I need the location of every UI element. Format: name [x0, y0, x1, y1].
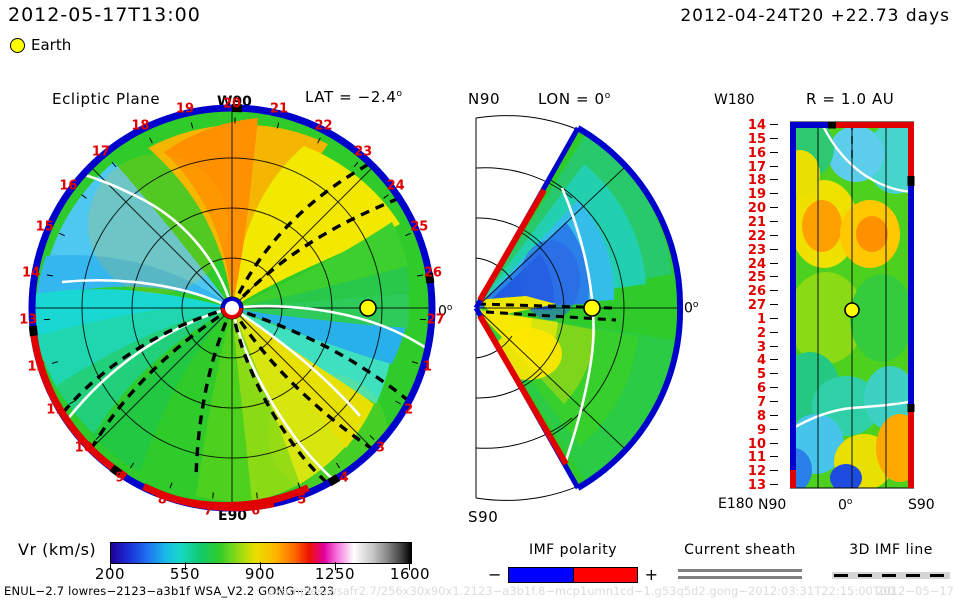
- map1au-row-tick: [770, 359, 778, 360]
- map1au-row-label: 13: [748, 479, 766, 492]
- map1au-row-tick: [770, 429, 778, 430]
- map1au-row-tick: [770, 221, 778, 222]
- map1au-row-label: 24: [748, 258, 766, 271]
- ecliptic-carrington-label: 16: [59, 180, 77, 193]
- map1au-row-tick: [770, 290, 778, 291]
- map1au-row-label: 22: [748, 230, 766, 243]
- ecliptic-carrington-label: 7: [204, 504, 213, 517]
- map1au-row-tick: [770, 304, 778, 305]
- ecliptic-tick: [149, 138, 153, 144]
- ecliptic-tick: [112, 162, 117, 167]
- ecliptic-tick: [81, 194, 86, 198]
- earth-marker-icon: [584, 300, 600, 316]
- map1au-row-label: 7: [757, 396, 766, 409]
- map1au-row-label: 25: [748, 271, 766, 284]
- map1au-row-label: 12: [748, 465, 766, 478]
- meridional-plot-svg: [466, 104, 698, 512]
- map1au-row-label: 15: [748, 133, 766, 146]
- ecliptic-tick: [420, 319, 426, 320]
- ecliptic-carrington-label: 21: [270, 103, 288, 116]
- map1au-plot-svg: [786, 118, 918, 492]
- legend-imf-positive-swatch: [573, 567, 638, 583]
- ecliptic-carrington-label: 19: [176, 103, 194, 116]
- map1au-row-tick: [770, 484, 778, 485]
- ecliptic-tick: [256, 492, 258, 498]
- meridional-velocity-field: [466, 104, 698, 512]
- map1au-row-label: 26: [748, 285, 766, 298]
- map1au-row-label: 16: [748, 147, 766, 160]
- earth-legend-label: Earth: [31, 36, 71, 54]
- ecliptic-tick: [212, 492, 214, 498]
- ecliptic-carrington-label: 27: [427, 313, 445, 326]
- timestamp-run-start: 2012-04-24T20 +22.73 days: [680, 6, 950, 26]
- map1au-row-label: 18: [748, 174, 766, 187]
- ecliptic-tick: [47, 275, 53, 277]
- watermark-path: examples/wsafr2.7/256x30x90x1.2123−a3b1f…: [268, 584, 895, 598]
- ecliptic-carrington-labels: 2021222324252627123456789101112131415161…: [28, 104, 436, 512]
- colorbar-tick-label: 1600: [390, 565, 430, 583]
- map-1au-panel: [786, 118, 918, 492]
- map1au-row-tick: [770, 443, 778, 444]
- ecliptic-carrington-label: 15: [36, 221, 54, 234]
- meridional-slice-panel: [466, 104, 698, 512]
- ecliptic-tick: [69, 401, 75, 405]
- map1au-row-label: 9: [757, 424, 766, 437]
- map1au-row-tick: [770, 415, 778, 416]
- ecliptic-tick: [383, 194, 388, 198]
- map1au-row-tick: [770, 456, 778, 457]
- map1au-row-tick: [770, 193, 778, 194]
- ecliptic-tick: [96, 435, 101, 440]
- ecliptic-tick: [412, 361, 418, 364]
- ecliptic-carrington-label: 8: [158, 493, 167, 506]
- ecliptic-carrington-label: 1: [423, 360, 432, 373]
- earth-marker-icon: [10, 38, 25, 53]
- map1au-row-tick: [770, 138, 778, 139]
- ecliptic-carrington-label: 2: [404, 404, 413, 417]
- ecliptic-carrington-label: 5: [297, 493, 306, 506]
- ecliptic-carrington-label: 13: [19, 313, 37, 326]
- ecliptic-carrington-label: 6: [251, 504, 260, 517]
- map1au-row-tick: [770, 207, 778, 208]
- ecliptic-tick: [130, 463, 134, 469]
- ecliptic-carrington-label: 23: [354, 145, 372, 158]
- map1au-row-label: 2: [757, 327, 766, 340]
- watermark-date: 2012−05−17: [876, 584, 954, 598]
- ecliptic-tick: [169, 482, 172, 488]
- colorbar-label: Vr (km/s): [18, 540, 96, 559]
- colorbar-tick-label: 900: [245, 565, 275, 583]
- map1au-row-tick: [770, 263, 778, 264]
- map1au-row-label: 3: [757, 341, 766, 354]
- colorbar-tick-label: 1250: [315, 565, 355, 583]
- map1au-row-label: 23: [748, 244, 766, 257]
- map1au-row-tick: [770, 387, 778, 388]
- ecliptic-carrington-label: 24: [387, 180, 405, 193]
- map1au-row-tick: [770, 249, 778, 250]
- legend-3d-imf-title: 3D IMF line: [826, 542, 956, 558]
- ecliptic-carrington-label: 4: [340, 472, 349, 485]
- map1au-row-label: 21: [748, 216, 766, 229]
- ecliptic-carrington-label: 11: [46, 404, 64, 417]
- map1au-row-label: 1: [757, 313, 766, 326]
- map1au-row-tick: [770, 373, 778, 374]
- map1au-top-left-label: W180: [714, 92, 755, 108]
- ecliptic-carrington-label: 22: [315, 119, 333, 132]
- ecliptic-carrington-label: 14: [22, 266, 40, 279]
- earth-marker-icon: [845, 303, 859, 317]
- colorbar-tick-label: 200: [95, 565, 125, 583]
- map1au-row-tick: [770, 332, 778, 333]
- map1au-row-label: 19: [748, 188, 766, 201]
- map1au-row-label: 27: [748, 299, 766, 312]
- map1au-row-label: 6: [757, 382, 766, 395]
- ecliptic-carrington-label: 20: [223, 98, 241, 111]
- map1au-title: R = 1.0 AU: [806, 90, 894, 108]
- ecliptic-tick: [395, 401, 401, 405]
- ecliptic-carrington-label: 17: [92, 145, 110, 158]
- map1au-row-tick: [770, 346, 778, 347]
- ecliptic-tick: [59, 232, 65, 235]
- ecliptic-tick: [318, 138, 322, 144]
- legend-imf-title: IMF polarity: [488, 542, 658, 558]
- map1au-row-label: 20: [748, 202, 766, 215]
- map1au-bottom-left-label: E180: [718, 496, 754, 512]
- map1au-xlabel-s90: S90: [908, 497, 935, 513]
- map1au-row-tick: [770, 166, 778, 167]
- ecliptic-tick: [298, 482, 301, 488]
- ecliptic-tick: [235, 118, 236, 124]
- map1au-row-label: 5: [757, 368, 766, 381]
- ecliptic-carrington-label: 3: [376, 441, 385, 454]
- map1au-row-label: 11: [748, 451, 766, 464]
- legend-imf-plus: +: [645, 565, 658, 584]
- ecliptic-carrington-label: 26: [424, 266, 442, 279]
- ecliptic-tick: [354, 162, 359, 167]
- ecliptic-tick: [417, 275, 423, 277]
- legend-current-sheath: Current sheath: [660, 542, 820, 579]
- map1au-row-tick: [770, 401, 778, 402]
- ecliptic-tick: [369, 435, 374, 440]
- legend-current-sheath-line-1: [678, 569, 802, 572]
- ecliptic-carrington-label: 12: [28, 360, 46, 373]
- map1au-row-tick: [770, 124, 778, 125]
- ecliptic-carrington-label: 10: [75, 441, 93, 454]
- map1au-row-tick: [770, 179, 778, 180]
- map1au-row-labels: 1415161718192021222324252627123456789101…: [712, 118, 782, 492]
- legend-current-sheath-line-2: [678, 576, 802, 579]
- map1au-row-label: 14: [748, 119, 766, 132]
- map1au-xlabel-n90: N90: [758, 497, 786, 513]
- legend-imf-minus: −: [488, 565, 501, 584]
- map1au-row-tick: [770, 470, 778, 471]
- ecliptic-carrington-label: 25: [410, 221, 428, 234]
- ecliptic-tick: [277, 123, 279, 129]
- ecliptic-tick: [190, 123, 192, 129]
- ecliptic-tick: [405, 232, 411, 235]
- map1au-row-label: 10: [748, 438, 766, 451]
- legend-3d-imf-sample: [832, 572, 950, 579]
- map1au-row-label: 8: [757, 410, 766, 423]
- colorbar-tick-label: 550: [170, 565, 200, 583]
- legend-current-sheath-title: Current sheath: [660, 542, 820, 558]
- map1au-row-tick: [770, 318, 778, 319]
- map1au-row-tick: [770, 276, 778, 277]
- timestamp-current: 2012-05-17T13:00: [8, 4, 201, 26]
- map1au-xlabel-center: 0o: [838, 497, 852, 514]
- ecliptic-tick: [52, 361, 58, 364]
- ecliptic-tick: [336, 463, 340, 469]
- earth-legend: Earth: [10, 36, 71, 54]
- ecliptic-carrington-label: 9: [115, 472, 124, 485]
- colorbar: [110, 542, 412, 564]
- ecliptic-carrington-label: 18: [131, 119, 149, 132]
- map1au-row-tick: [770, 235, 778, 236]
- ecliptic-tick: [44, 319, 50, 320]
- legend-imf-polarity: IMF polarity − +: [488, 542, 658, 584]
- map1au-row-label: 17: [748, 161, 766, 174]
- map1au-row-tick: [770, 152, 778, 153]
- legend-imf-negative-swatch: [508, 567, 573, 583]
- map1au-row-label: 4: [757, 354, 766, 367]
- legend-3d-imf-line: 3D IMF line: [826, 542, 956, 579]
